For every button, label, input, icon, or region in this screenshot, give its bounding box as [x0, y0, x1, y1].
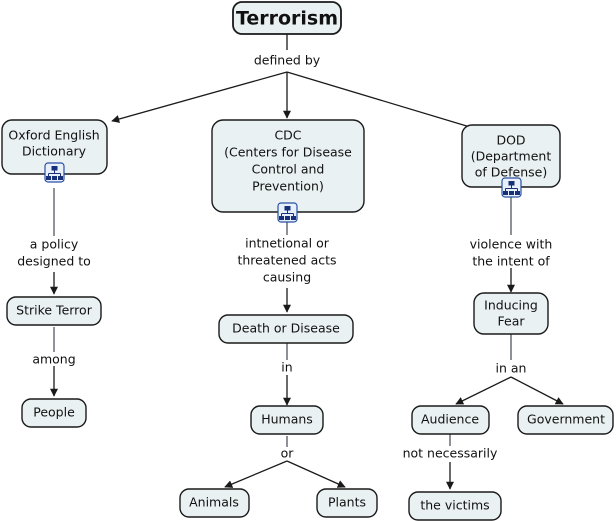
- node-dod-label-line1: DOD: [496, 133, 525, 148]
- link-label-violence-2: the intent of: [472, 254, 550, 269]
- edge-inan-to-government: [511, 377, 563, 404]
- node-inducing-fear[interactable]: Inducing Fear: [474, 293, 548, 334]
- node-plants[interactable]: Plants: [317, 489, 377, 517]
- node-cdc[interactable]: CDC (Centers for Disease Control and Pre…: [212, 120, 364, 222]
- node-cdc-label-line1: CDC: [274, 128, 301, 143]
- hierarchy-tree-icon-top: [52, 166, 58, 171]
- edge-or-to-animals: [225, 461, 287, 487]
- link-label-designed-to: designed to: [17, 254, 91, 269]
- hierarchy-tree-icon-top: [509, 181, 515, 186]
- hierarchy-tree-icon[interactable]: [502, 178, 521, 197]
- node-terrorism[interactable]: Terrorism: [233, 2, 341, 34]
- link-label-or: or: [281, 446, 295, 461]
- node-inducing-fear-label-line1: Inducing: [484, 298, 538, 313]
- hierarchy-tree-icon-leaf-mid: [52, 176, 57, 180]
- node-cdc-label-line2: (Centers for Disease: [224, 145, 352, 160]
- hierarchy-tree-icon-leaf-right: [291, 216, 296, 220]
- node-government[interactable]: Government: [518, 406, 613, 434]
- hierarchy-tree-icon[interactable]: [45, 163, 64, 182]
- node-people-label: People: [33, 405, 75, 420]
- node-the-victims-label: the victims: [420, 498, 489, 513]
- node-oxford-english-dictionary[interactable]: Oxford English Dictionary: [2, 120, 107, 182]
- concept-map-canvas: Terrorism defined by Oxford English Dict…: [0, 0, 616, 521]
- node-death-or-disease-label: Death or Disease: [232, 321, 340, 336]
- node-dod[interactable]: DOD (Department of Defense): [462, 125, 560, 197]
- hierarchy-tree-icon-leaf-right: [515, 191, 520, 195]
- link-label-defined-by: defined by: [254, 53, 321, 68]
- hierarchy-tree-icon-leaf-left: [503, 191, 508, 195]
- hierarchy-tree-icon-leaf-left: [279, 216, 284, 220]
- concept-map-svg: Terrorism defined by Oxford English Dict…: [0, 0, 616, 521]
- hierarchy-tree-icon[interactable]: [278, 203, 297, 222]
- edge-or-to-plants: [287, 461, 345, 487]
- link-label-intnetional-1: intnetional or: [245, 236, 330, 251]
- node-people[interactable]: People: [22, 399, 86, 427]
- node-terrorism-label: Terrorism: [236, 8, 338, 30]
- node-strike-terror[interactable]: Strike Terror: [7, 297, 101, 325]
- edge-definedby-to-oed: [112, 72, 287, 121]
- hierarchy-tree-icon-top: [285, 206, 291, 211]
- node-animals[interactable]: Animals: [180, 489, 249, 517]
- hierarchy-tree-icon-leaf-mid: [509, 191, 514, 195]
- node-humans-label: Humans: [261, 412, 313, 427]
- node-audience[interactable]: Audience: [412, 406, 489, 434]
- node-cdc-label-line3: Control and: [252, 162, 325, 177]
- link-label-a-policy: a policy: [30, 237, 79, 252]
- node-strike-terror-label: Strike Terror: [16, 303, 93, 318]
- node-inducing-fear-label-line2: Fear: [498, 314, 526, 329]
- node-cdc-label-line4: Prevention): [252, 179, 324, 194]
- link-label-not-necessarily: not necessarily: [403, 446, 498, 461]
- link-label-intnetional-2: threatened acts: [237, 253, 336, 268]
- node-humans[interactable]: Humans: [251, 406, 323, 434]
- link-label-among: among: [32, 352, 75, 367]
- edge-definedby-to-dod: [287, 72, 470, 127]
- link-label-in: in: [281, 360, 292, 375]
- link-label-intnetional-3: causing: [263, 270, 311, 285]
- node-death-or-disease[interactable]: Death or Disease: [219, 315, 353, 343]
- hierarchy-tree-icon-leaf-left: [46, 176, 51, 180]
- node-plants-label: Plants: [328, 495, 366, 510]
- node-oed-label-line1: Oxford English: [8, 128, 99, 143]
- node-audience-label: Audience: [421, 412, 479, 427]
- hierarchy-tree-icon-leaf-mid: [285, 216, 290, 220]
- hierarchy-tree-icon-leaf-right: [58, 176, 63, 180]
- node-government-label: Government: [527, 412, 605, 427]
- node-dod-label-line3: of Defense): [475, 165, 547, 180]
- edge-inan-to-audience: [456, 377, 511, 404]
- node-animals-label: Animals: [189, 495, 239, 510]
- node-the-victims[interactable]: the victims: [409, 492, 501, 520]
- link-label-in-an: in an: [496, 361, 527, 376]
- link-label-violence-1: violence with: [470, 237, 553, 252]
- node-dod-label-line2: (Department: [471, 149, 552, 164]
- node-oed-label-line2: Dictionary: [22, 144, 87, 159]
